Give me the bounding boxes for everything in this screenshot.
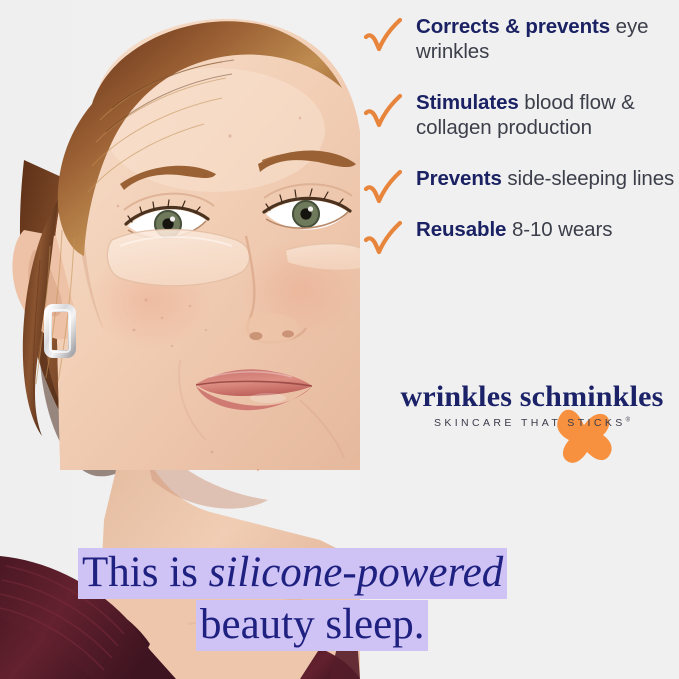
benefit-text-4: Reusable 8-10 wears	[416, 218, 612, 241]
benefit-rest-3: side-sleeping lines	[502, 167, 674, 190]
benefit-item-3: Prevents side-sleeping lines	[358, 166, 679, 191]
orange-splat-icon	[553, 405, 615, 467]
logo-tagline: SKINCARE THAT STICKS®	[398, 417, 666, 429]
product-marketing-image: Corrects & prevents eye wrinkles Stimula…	[0, 0, 679, 679]
benefit-text-2: Stimulates blood flow & collagen product…	[416, 91, 635, 139]
benefit-item-1: Corrects & prevents eye wrinkles	[358, 14, 679, 64]
benefit-item-2: Stimulates blood flow & collagen product…	[358, 90, 679, 140]
silicone-eye-patch	[107, 230, 249, 286]
check-icon	[362, 219, 404, 259]
check-icon	[362, 16, 404, 56]
registered-trademark-mark: ®	[626, 418, 630, 424]
brand-logo: wrinkles schminkles SKINCARE THAT STICKS…	[398, 380, 666, 475]
benefit-bold-1: Corrects & prevents	[416, 15, 610, 38]
benefit-rest-4: 8-10 wears	[506, 218, 612, 241]
benefit-text-1: Corrects & prevents eye wrinkles	[416, 15, 648, 63]
benefits-list: Corrects & prevents eye wrinkles Stimula…	[358, 14, 679, 242]
model-portrait-photo	[0, 0, 360, 679]
benefit-bold-3: Prevents	[416, 167, 502, 190]
logo-tagline-text: SKINCARE THAT STICKS	[434, 417, 626, 429]
check-icon	[362, 92, 404, 132]
logo-wordmark: wrinkles schminkles	[398, 380, 666, 414]
benefit-text-3: Prevents side-sleeping lines	[416, 167, 674, 190]
benefit-bold-4: Reusable	[416, 218, 506, 241]
benefit-item-4: Reusable 8-10 wears	[358, 217, 679, 242]
check-icon	[362, 168, 404, 208]
benefit-bold-2: Stimulates	[416, 91, 519, 114]
